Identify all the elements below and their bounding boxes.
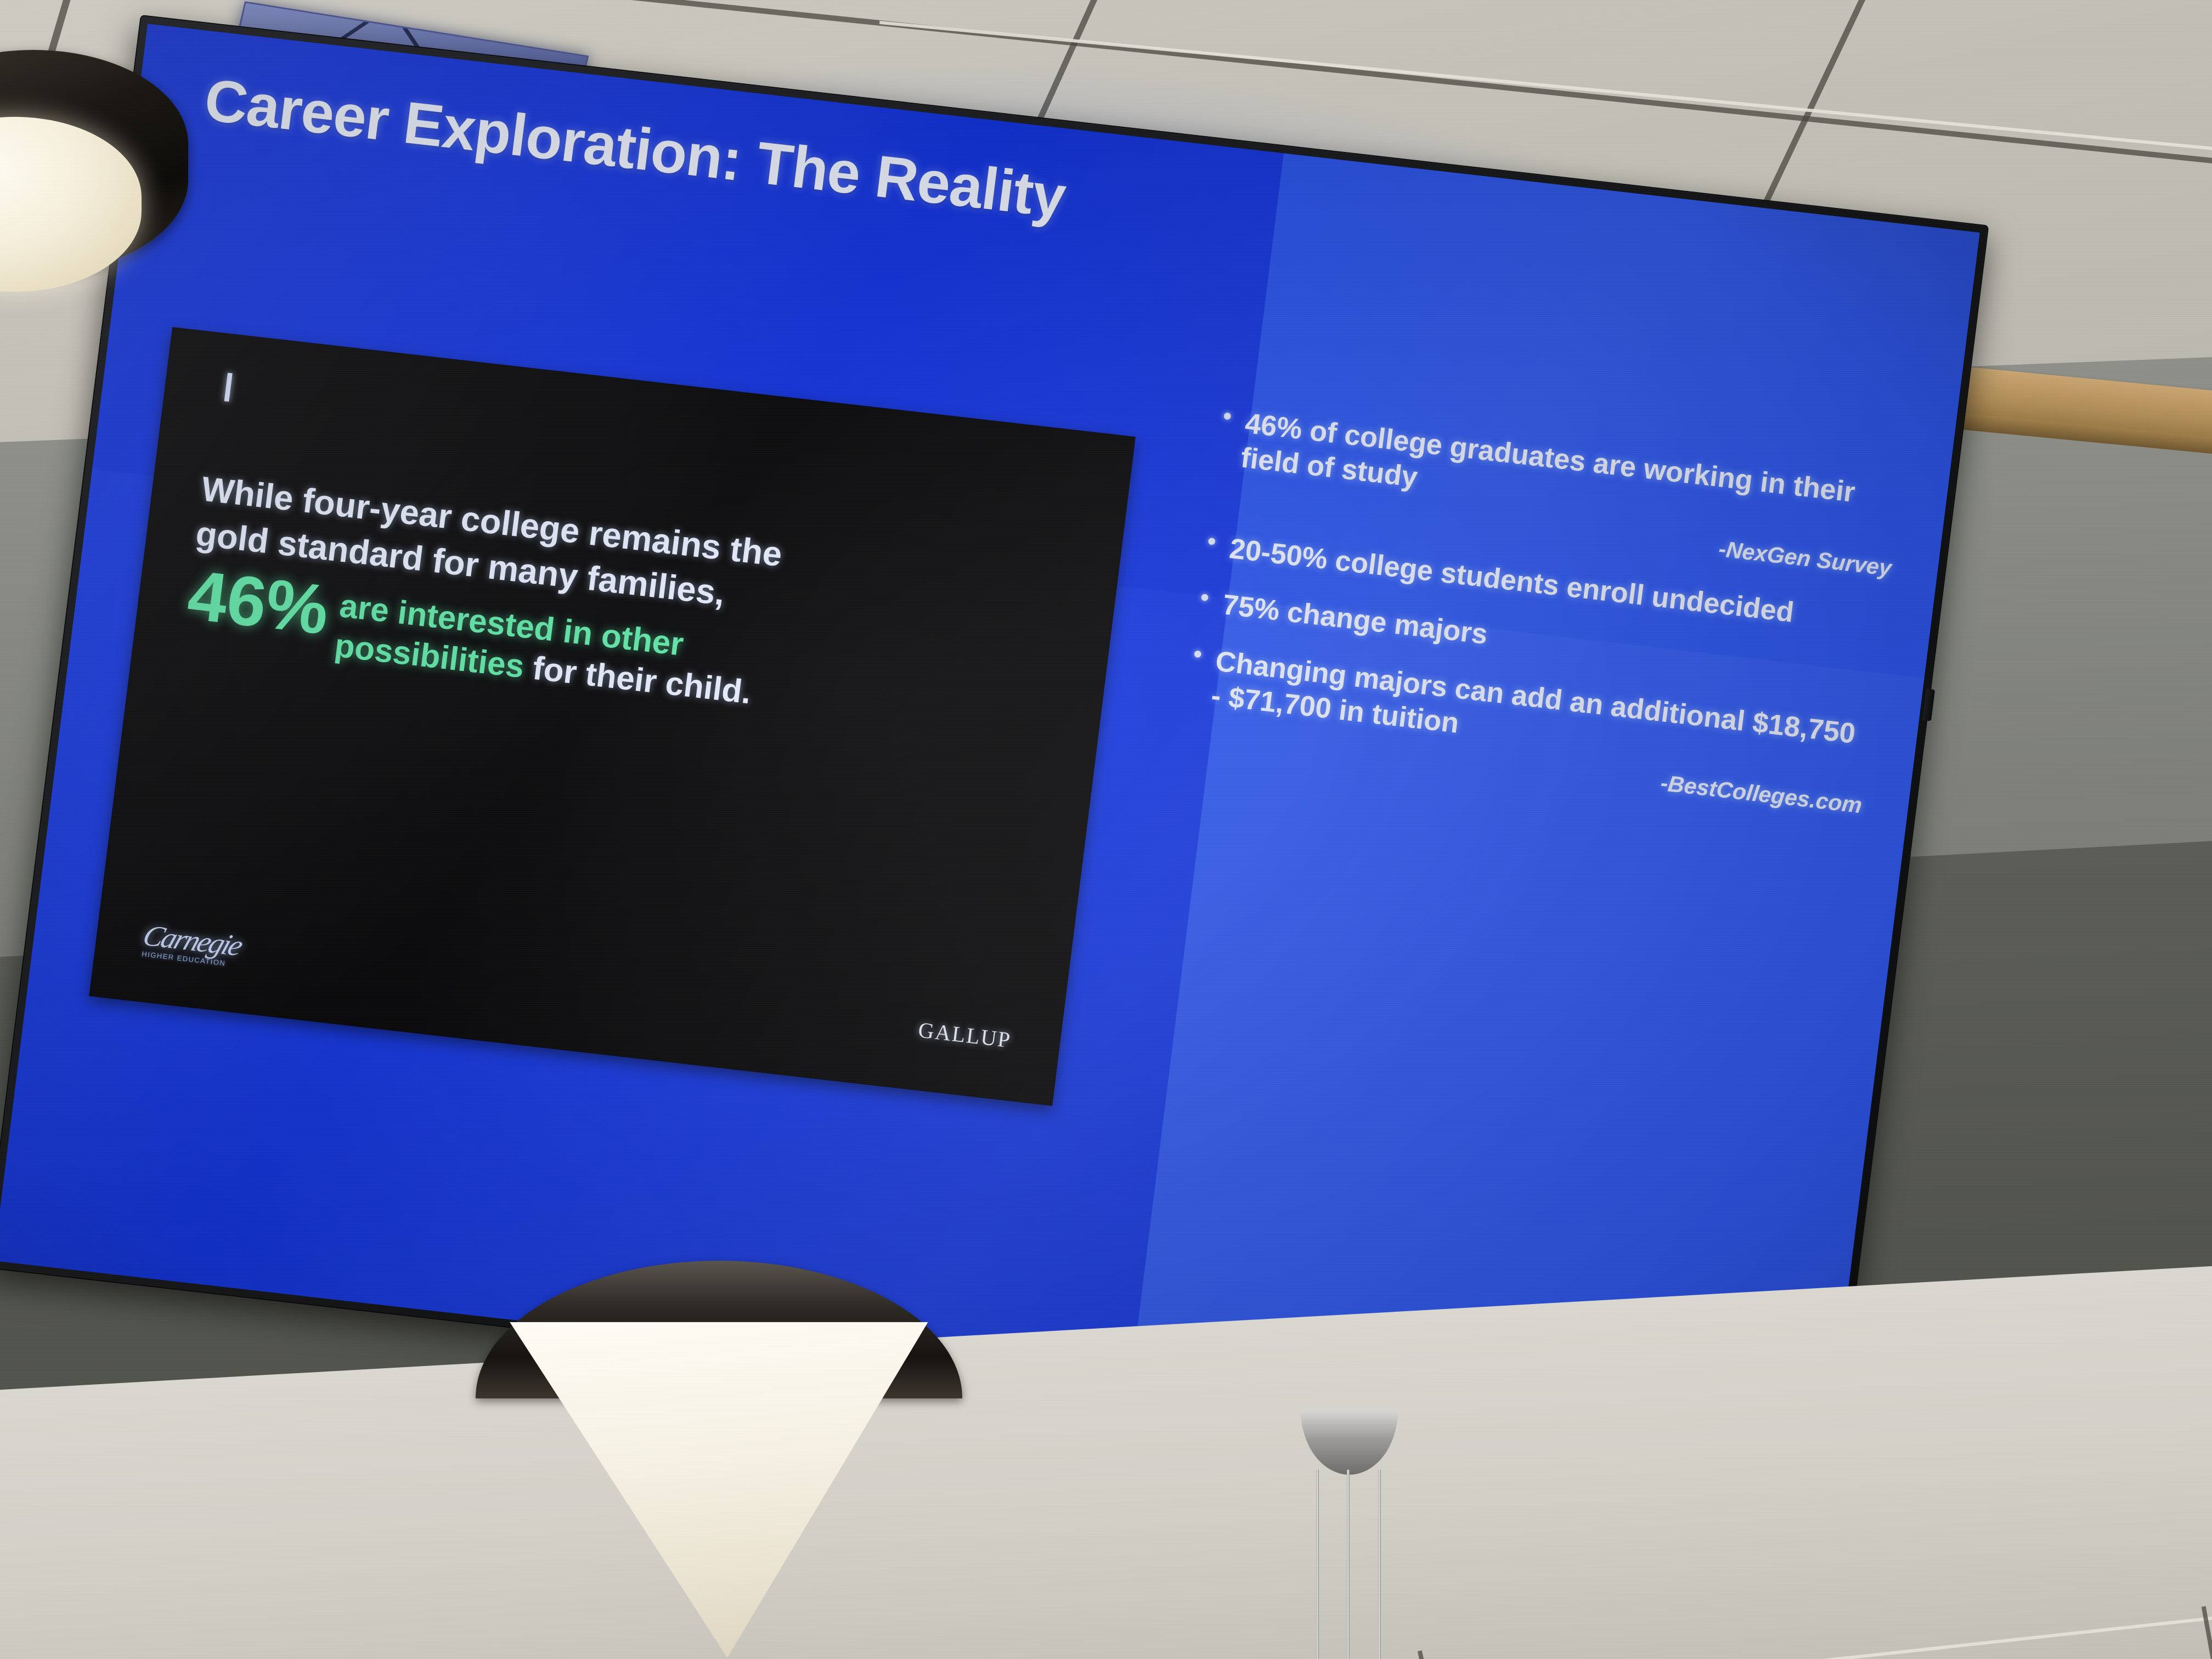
tv-bezel: Career Exploration: The Reality ❙ While …	[0, 16, 1988, 1477]
pendant-light-cone	[476, 1261, 962, 1643]
ceiling-grid-line	[1418, 1650, 1470, 1659]
light-rod	[1316, 1470, 1319, 1659]
room-scene: Career Exploration: The Reality ❙ While …	[0, 0, 2212, 1659]
wall-mounted-television[interactable]: Career Exploration: The Reality ❙ While …	[0, 16, 1988, 1477]
tv-screen[interactable]: Career Exploration: The Reality ❙ While …	[0, 24, 1979, 1469]
screen-vignette	[0, 24, 1979, 1469]
ceiling-light-top-left	[0, 50, 188, 274]
pendant-light-stem	[1294, 1410, 1405, 1659]
light-rod	[1347, 1470, 1350, 1659]
light-canopy	[1301, 1410, 1398, 1475]
light-rod	[1378, 1470, 1381, 1659]
light-cone-shade	[510, 1322, 928, 1658]
ceiling-grid-line	[2201, 1606, 2212, 1659]
ceiling-grid-line	[0, 1543, 2212, 1659]
